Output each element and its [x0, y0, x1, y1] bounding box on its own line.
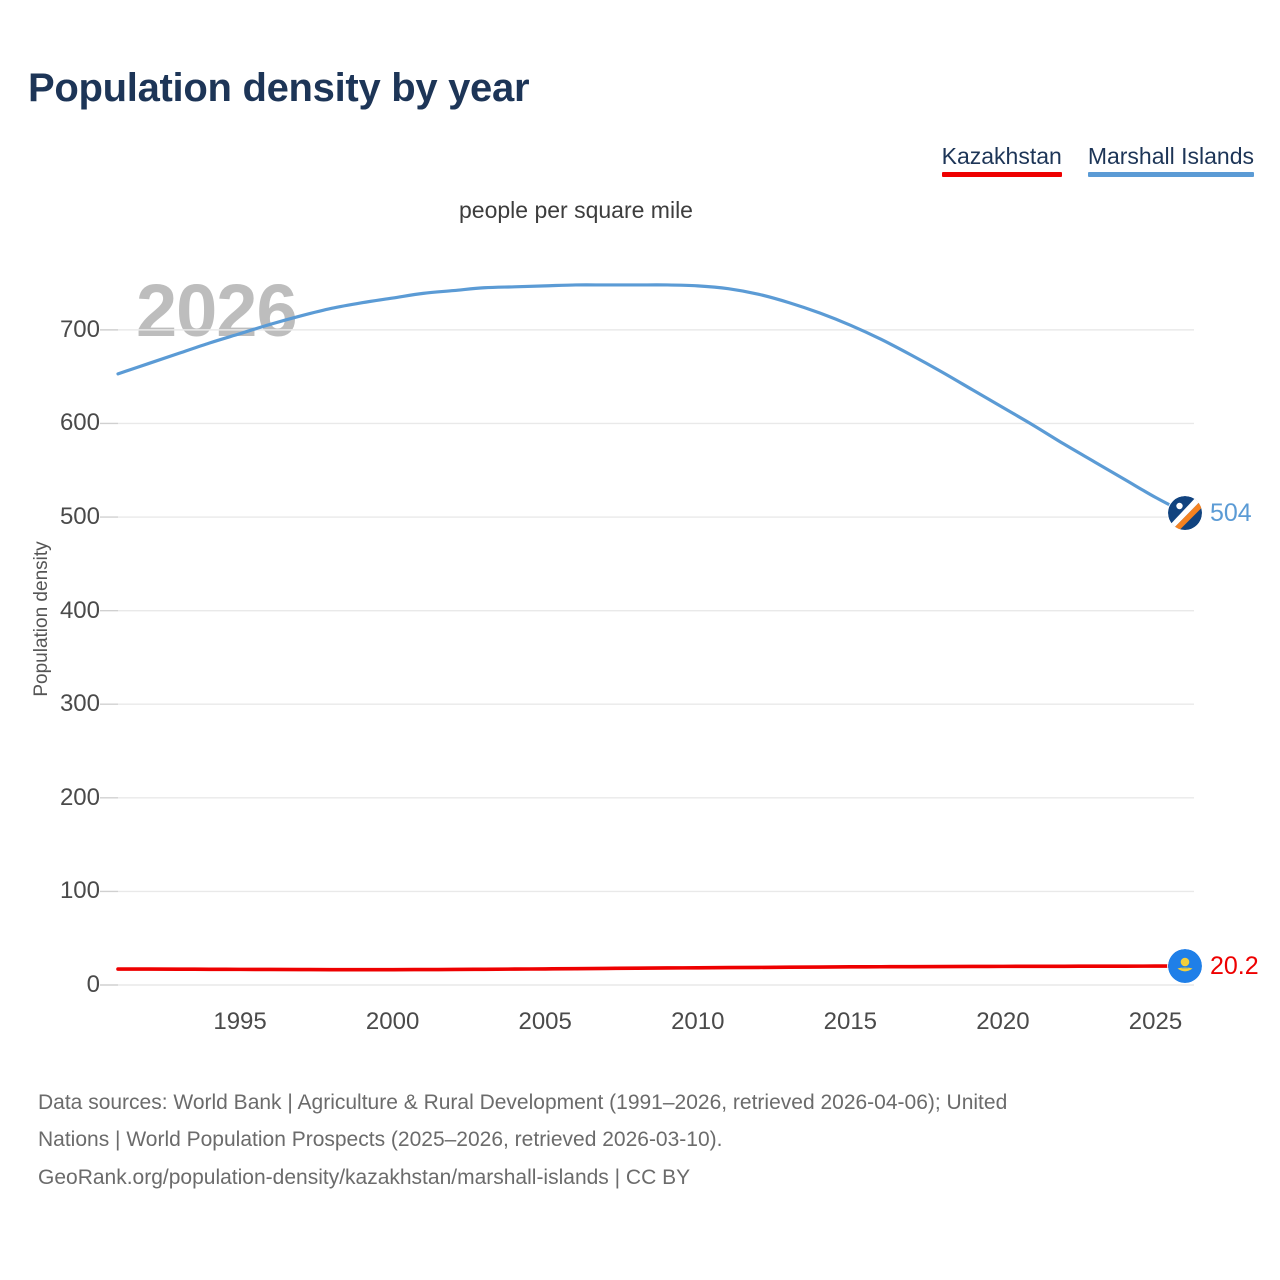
y-tick-label: 700	[0, 316, 100, 344]
chart-page: Population density by year Kazakhstan Ma…	[0, 0, 1280, 1280]
x-tick-label: 2000	[333, 1008, 453, 1036]
endpoint-value-kazakhstan: 20.2	[1210, 954, 1259, 979]
x-tick-label: 2010	[638, 1008, 758, 1036]
series-line-kazakhstan	[118, 966, 1186, 970]
x-tick-label: 1995	[180, 1008, 300, 1036]
x-tick-label: 2005	[485, 1008, 605, 1036]
gridlines	[118, 330, 1194, 985]
marshall-islands-flag-icon	[1168, 496, 1202, 530]
series-line-marshall-islands	[118, 285, 1186, 513]
endpoint-kazakhstan[interactable]: 20.2	[1168, 949, 1259, 983]
plot-area	[0, 0, 1280, 1060]
kazakhstan-flag-icon	[1168, 949, 1202, 983]
y-tick-label: 500	[0, 503, 100, 531]
y-tick-label: 300	[0, 690, 100, 718]
y-tick-label: 600	[0, 409, 100, 437]
y-tick-label: 100	[0, 877, 100, 905]
x-tick-label: 2015	[790, 1008, 910, 1036]
footer-line-2: Nations | World Population Prospects (20…	[38, 1121, 1253, 1158]
y-tick-label: 200	[0, 784, 100, 812]
x-tick-label: 2020	[943, 1008, 1063, 1036]
footer-sources: Data sources: World Bank | Agriculture &…	[38, 1084, 1253, 1196]
y-tick-label: 400	[0, 597, 100, 625]
y-tick-label: 0	[0, 971, 100, 999]
footer-line-3: GeoRank.org/population-density/kazakhsta…	[38, 1159, 1253, 1196]
endpoint-marshall-islands[interactable]: 504	[1168, 496, 1252, 530]
footer-line-1: Data sources: World Bank | Agriculture &…	[38, 1084, 1253, 1121]
x-tick-label: 2025	[1095, 1008, 1215, 1036]
axis-tick-marks	[100, 330, 118, 985]
plot-svg	[0, 0, 1280, 1060]
endpoint-value-marshall-islands: 504	[1210, 501, 1252, 526]
